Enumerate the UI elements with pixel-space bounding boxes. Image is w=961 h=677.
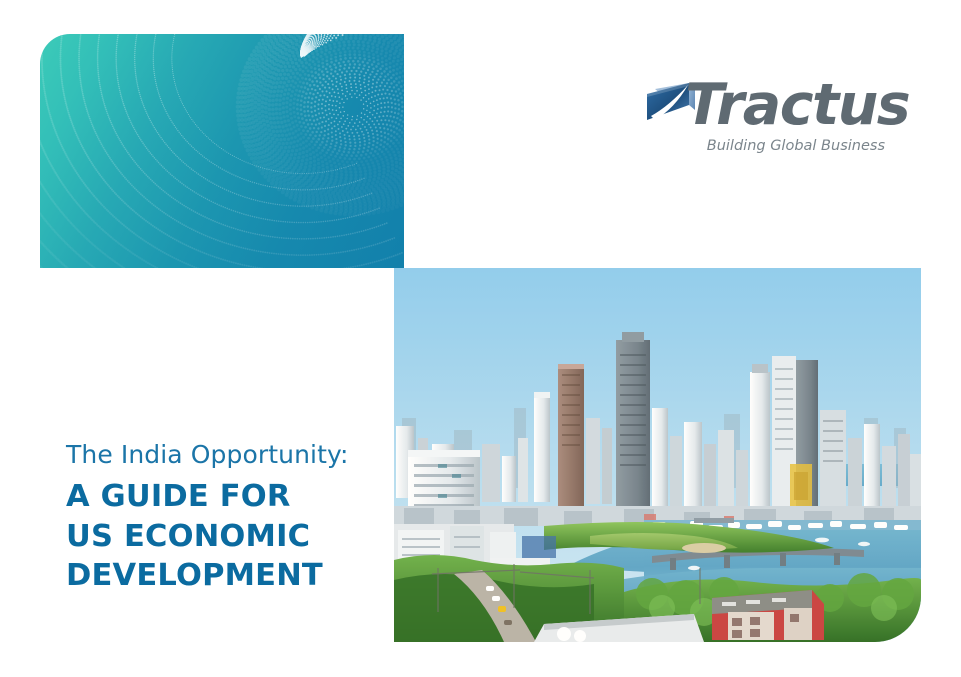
brand-logo: Tractus Building Global Business [645,78,885,160]
title-line-1: A GUIDE FOR [66,477,386,517]
title-eyebrow: The India Opportunity: [66,438,386,471]
title-line-2: US ECONOMIC [66,517,386,557]
title-block: The India Opportunity: A GUIDE FOR US EC… [66,438,386,596]
title-main: A GUIDE FOR US ECONOMIC DEVELOPMENT [66,477,386,596]
logo-tagline: Building Global Business [673,138,885,154]
title-line-3: DEVELOPMENT [66,556,386,596]
decorative-gradient-panel [40,34,404,268]
cover-photograph [394,268,921,642]
halftone-swirl-graphic [40,34,404,268]
city-skyline-waterfront-photo [394,268,921,642]
cover-page: Tractus Building Global Business The Ind… [0,0,961,677]
logo-wordmark: Tractus [685,72,909,138]
